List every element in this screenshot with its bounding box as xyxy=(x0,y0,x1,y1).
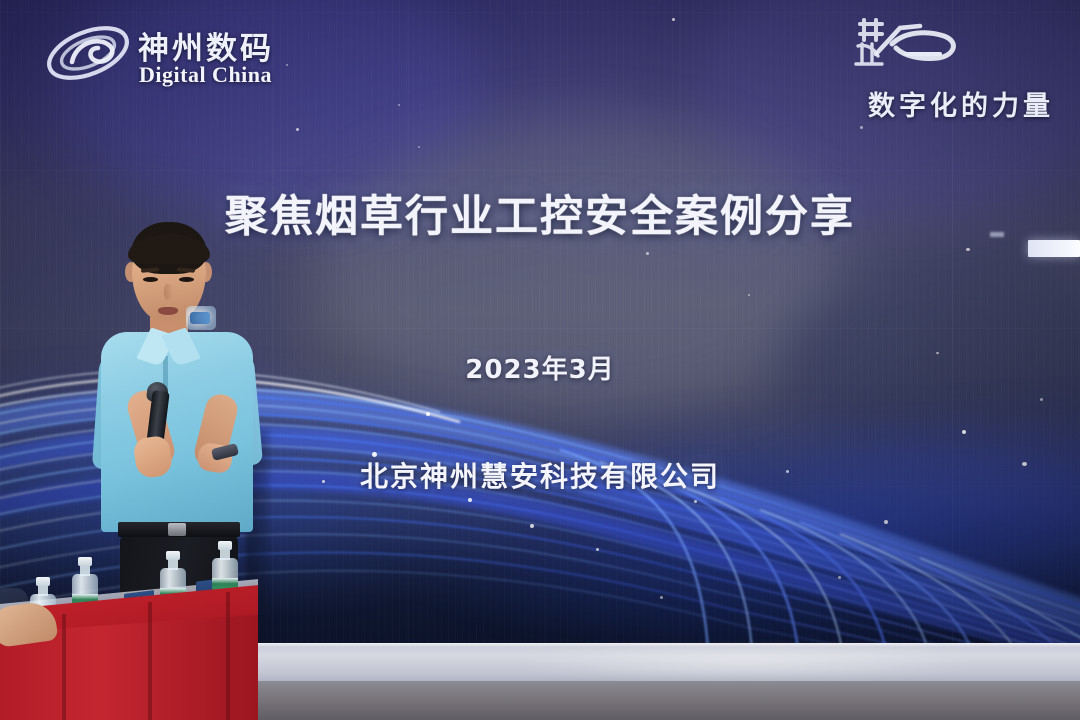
cloth-fold xyxy=(62,614,66,720)
presenter-eye-left xyxy=(143,277,158,282)
stage-floor-gloss xyxy=(520,648,1080,680)
brand-name-en: Digital China xyxy=(139,62,272,88)
presenter-eye-right xyxy=(179,277,194,282)
presenter-chest-badge-inner xyxy=(190,312,210,324)
conference-photo: 神州数码 Digital China 数字化的力量 聚 xyxy=(0,0,1080,720)
digital-china-brand-lockup: 神州数码 Digital China xyxy=(42,18,312,94)
bottle-cap xyxy=(166,551,180,560)
presenter-belt-buckle xyxy=(168,523,186,536)
bottle-cap xyxy=(218,541,232,550)
event-mark: 数字化的力量 xyxy=(788,14,1058,118)
presenter-nose xyxy=(164,284,172,300)
event-calligraphy-juhe xyxy=(848,14,978,76)
event-subtitle: 数字化的力量 xyxy=(868,84,1054,123)
cloth-fold xyxy=(226,592,230,720)
digital-china-swirl-logo-icon xyxy=(42,20,134,88)
presenter-mouth xyxy=(158,307,178,315)
cloth-fold xyxy=(148,602,152,720)
bottle-cap xyxy=(36,577,50,586)
bottle-cap xyxy=(78,557,92,566)
